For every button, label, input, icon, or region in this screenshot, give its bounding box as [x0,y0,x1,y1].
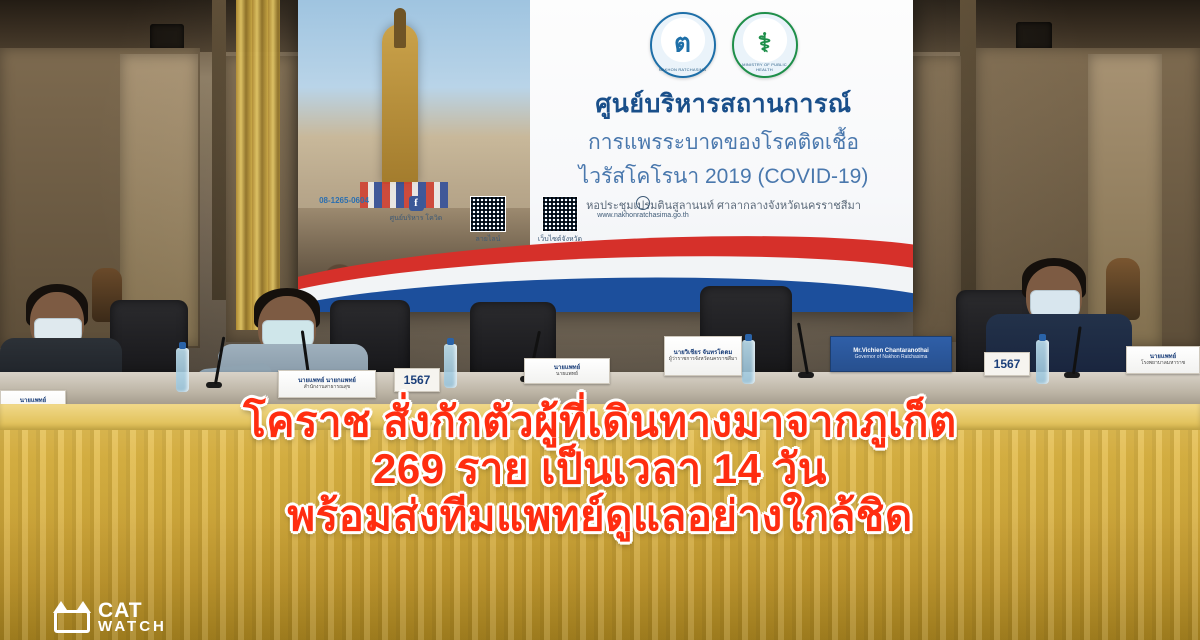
facebook-icon: f [409,196,424,211]
slide-title-line-2: การแพรระบาดของโรคติดเชื้อ [544,126,903,159]
provincial-seal-ring-text: NAKHON RATCHASIMA [652,67,714,72]
watermark-text: CAT WATCH [98,601,167,634]
monument-tower [382,24,418,184]
provincial-seal-mark: ต [674,22,691,63]
water-bottle-left [176,348,189,392]
monument-statue [394,8,406,48]
globe-icon [636,196,650,210]
ministry-emblem-ring-text: MINISTRY OF PUBLIC HEALTH [734,62,796,72]
water-bottle-right [1036,340,1049,384]
facebook-label: ศูนย์บริหาร โควิด [390,213,443,224]
nameplate-governor-english: Mr.Vichien Chantaranothai Governor of Na… [830,336,952,372]
nameplate-far-right: นายแพทย์ โรงพยาบาลมหาราช [1126,346,1200,374]
nameplate-second-left-line2: สำนักงานสาธารณสุข [298,385,356,390]
wall-beam-left [212,0,226,300]
ministry-of-public-health-emblem: ⚕ MINISTRY OF PUBLIC HEALTH [732,12,798,78]
watermark: CAT WATCH [52,601,167,634]
slide-title-line-3: ไวรัสโคโรนา 2019 (COVID-19) [544,160,903,193]
cat-logo-icon [52,601,92,633]
nameplate-center-line2: นายแพทย์ [554,372,580,377]
nameplate-second-left: นายแพทย์ นายกแพทย์ สำนักงานสาธารณสุข [278,370,376,398]
water-bottle-center-left [444,344,457,388]
table-skirt-top-band [0,404,1200,430]
ceiling-speaker-left [150,24,184,50]
ceiling-speaker-right [1016,22,1052,50]
placard-number-left: 1567 [394,368,440,392]
slide-title-line-1: ศูนย์บริหารสถานการณ์ [544,84,903,124]
watermark-line-2: WATCH [98,620,167,634]
water-bottle-center [742,340,755,384]
nameplate-governor-english-line2: Governor of Nakhon Ratchasima [853,355,929,360]
placard-left-text: 1567 [404,373,431,387]
slide-emblems: ต NAKHON RATCHASIMA ⚕ MINISTRY OF PUBLIC… [544,12,903,78]
wall-panel-center-right [913,56,961,342]
nameplate-far-right-line2: โรงพยาบาลมหาราช [1141,361,1185,366]
presentation-slide: ต NAKHON RATCHASIMA ⚕ MINISTRY OF PUBLIC… [298,0,913,312]
nameplate-governor: นายวิเชียร จันทรโดดม ผู้ว่าราชการจังหวัด… [664,336,742,376]
slide-phone-number: 08-1265-0604 [319,196,369,205]
table-skirt [0,404,1200,640]
gold-curtain [236,0,280,330]
website-url-label: www.nakhonratchasima.go.th [597,212,688,219]
wall-beam-right [960,0,976,300]
projector-screen: ต NAKHON RATCHASIMA ⚕ MINISTRY OF PUBLIC… [298,0,913,312]
website-url-block: www.nakhonratchasima.go.th [600,196,686,219]
decorative-vase-right [1106,258,1140,320]
facebook-contact: f ศูนย์บริหาร โควิด [384,196,448,224]
slide-phone-block: 08-1265-0604 [312,196,376,205]
screenshot-stage: ต NAKHON RATCHASIMA ⚕ MINISTRY OF PUBLIC… [0,0,1200,640]
qr-code-icon-website [542,196,578,232]
placard-number-right: 1567 [984,352,1030,376]
placard-right-text: 1567 [994,357,1021,371]
nameplate-center: นายแพทย์ นายแพทย์ [524,358,610,384]
qr-code-icon-line [470,196,506,232]
nameplate-governor-line2: ผู้ว่าราชการจังหวัดนครราชสีมา [669,357,737,362]
ministry-emblem-mark: ⚕ [757,27,771,58]
provincial-seal-emblem: ต NAKHON RATCHASIMA [650,12,716,78]
cat-head-icon [54,610,90,633]
